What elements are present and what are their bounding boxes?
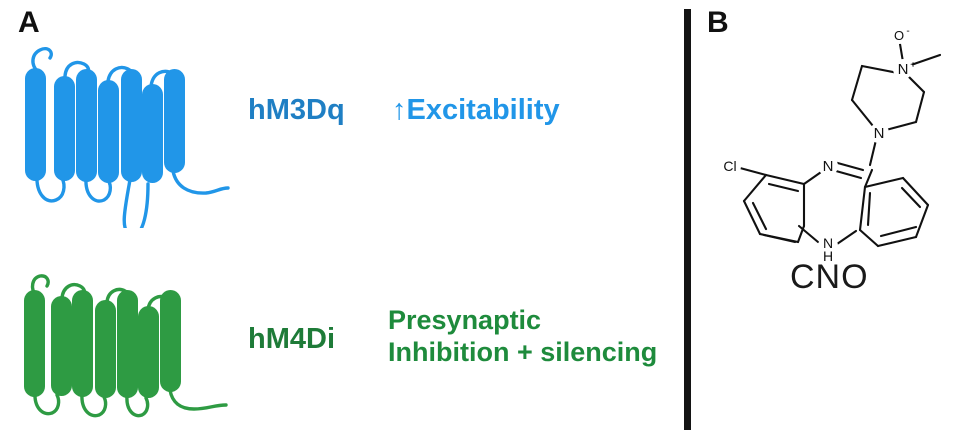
- atom-label-amine-nitrogen: N: [874, 125, 885, 142]
- atom-charge-oxide-nitrogen: +: [910, 60, 916, 71]
- atom-label-oxide-oxygen: O: [894, 28, 904, 43]
- receptor-label-hm4di: hM4Di: [248, 322, 335, 356]
- effect-line-1: Presynaptic: [388, 305, 541, 335]
- atom-label-oxide-nitrogen: N: [898, 61, 909, 78]
- effect-line-2: Inhibition + silencing: [388, 337, 657, 367]
- effect-label-excitability: ↑Excitability: [392, 93, 560, 127]
- panel-divider: [684, 9, 691, 430]
- gpcr-seven-transmembrane-icon-hm3dq: [8, 28, 238, 228]
- atom-charge-oxide-oxygen: -: [906, 26, 909, 37]
- clozapine-n-oxide-skeletal-structure: O - N + N N N H Cl: [700, 18, 962, 268]
- receptor-label-hm3dq: hM3Dq: [248, 93, 345, 127]
- gpcr-seven-transmembrane-icon-hm4di: [8, 272, 243, 422]
- molecule-label-cno: CNO: [790, 258, 869, 297]
- atom-label-chlorine: Cl: [723, 158, 736, 174]
- figure-container: A hM3D: [0, 0, 969, 438]
- effect-label-inhibition: PresynapticInhibition + silencing: [388, 305, 657, 369]
- atom-label-imine-nitrogen: N: [823, 158, 834, 175]
